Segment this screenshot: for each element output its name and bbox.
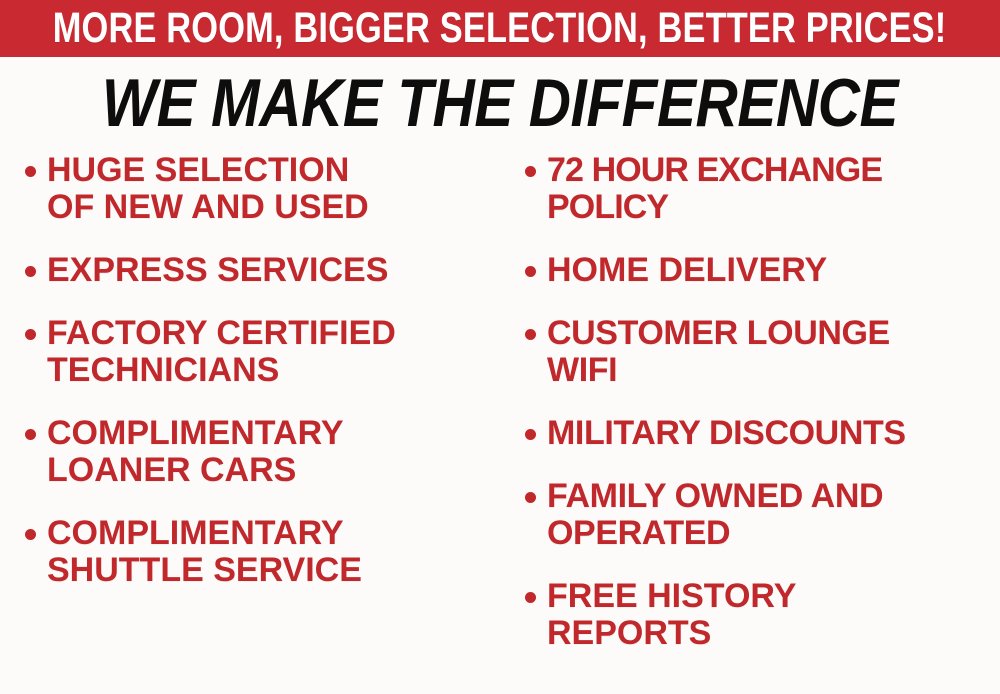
bullet-dot-icon <box>25 429 36 440</box>
list-item: COMPLIMENTARY SHUTTLE SERVICE <box>14 515 500 589</box>
list-item-label: MILITARY DISCOUNTS <box>547 415 1000 452</box>
list-item: HOME DELIVERY <box>514 252 1000 289</box>
promotional-poster: MORE ROOM, BIGGER SELECTION, BETTER PRIC… <box>0 0 1000 694</box>
bullet-dot-icon <box>25 329 36 340</box>
benefits-column-right: 72 HOUR EXCHANGE POLICY HOME DELIVERY CU… <box>514 152 1000 694</box>
list-item-label: COMPLIMENTARY SHUTTLE SERVICE <box>47 515 500 589</box>
list-item: 72 HOUR EXCHANGE POLICY <box>514 152 1000 226</box>
list-item: COMPLIMENTARY LOANER CARS <box>14 415 500 489</box>
bullet-dot-icon <box>25 166 36 177</box>
bullet-dot-icon <box>525 592 536 603</box>
bullet-dot-icon <box>525 166 536 177</box>
list-item: FACTORY CERTIFIED TECHNICIANS <box>14 315 500 389</box>
list-item-label: HOME DELIVERY <box>547 252 1000 289</box>
list-item-label: FAMILY OWNED AND OPERATED <box>547 478 1000 552</box>
list-item: FREE HISTORY REPORTS <box>514 578 1000 652</box>
main-headline-text: WE MAKE THE DIFFERENCE <box>102 69 898 137</box>
list-item-label: HUGE SELECTION OF NEW AND USED <box>47 152 500 226</box>
bullet-dot-icon <box>525 429 536 440</box>
list-item-label: EXPRESS SERVICES <box>47 252 500 289</box>
list-item: HUGE SELECTION OF NEW AND USED <box>14 152 500 226</box>
benefits-column-left: HUGE SELECTION OF NEW AND USED EXPRESS S… <box>14 152 500 694</box>
list-item-label: 72 HOUR EXCHANGE POLICY <box>547 152 1000 226</box>
list-item: CUSTOMER LOUNGE WIFI <box>514 315 1000 389</box>
list-item-label: FACTORY CERTIFIED TECHNICIANS <box>47 315 500 389</box>
top-banner: MORE ROOM, BIGGER SELECTION, BETTER PRIC… <box>0 0 1000 57</box>
list-item: MILITARY DISCOUNTS <box>514 415 1000 452</box>
bullet-dot-icon <box>25 529 36 540</box>
list-item-label: FREE HISTORY REPORTS <box>547 578 1000 652</box>
list-item-label: CUSTOMER LOUNGE WIFI <box>547 315 1000 389</box>
list-item-label: COMPLIMENTARY LOANER CARS <box>47 415 500 489</box>
list-item: FAMILY OWNED AND OPERATED <box>514 478 1000 552</box>
bullet-dot-icon <box>25 266 36 277</box>
main-headline-container: WE MAKE THE DIFFERENCE <box>0 64 1000 142</box>
bullet-dot-icon <box>525 266 536 277</box>
bullet-dot-icon <box>525 492 536 503</box>
benefits-columns: HUGE SELECTION OF NEW AND USED EXPRESS S… <box>0 152 1000 694</box>
banner-headline-text: MORE ROOM, BIGGER SELECTION, BETTER PRIC… <box>53 7 947 50</box>
bullet-dot-icon <box>525 329 536 340</box>
list-item: EXPRESS SERVICES <box>14 252 500 289</box>
